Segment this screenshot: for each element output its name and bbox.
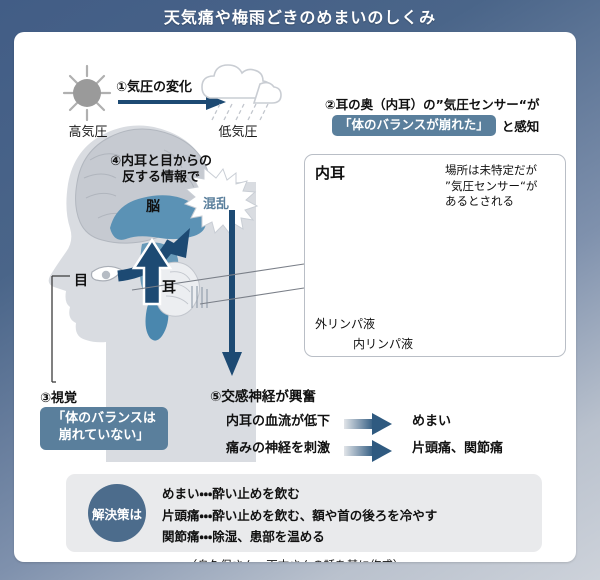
- sensor-note-line2: ”気圧センサー“が: [445, 179, 537, 195]
- main-card: ①気圧の変化 高気圧 低気圧 ②耳の奥（内耳）の”気圧センサー“が 「体のバラン…: [14, 32, 576, 562]
- step3-label: ③視覚: [40, 387, 77, 406]
- step2-suffix: と感知: [502, 116, 540, 135]
- sensor-note-line1: 場所は未特定だが: [445, 163, 537, 179]
- low-pressure-label: 低気圧: [200, 121, 276, 140]
- page-title: 天気痛や梅雨どきのめまいのしくみ: [164, 4, 436, 28]
- eye-label: 目: [74, 270, 88, 290]
- step2-line2: 「体のバランスが崩れた」 と感知: [332, 115, 539, 136]
- step4-label: ④内耳と目からの 反する情報で: [110, 154, 212, 187]
- eye-leader-line: [52, 276, 70, 382]
- list-item: 関節痛・・・除湿、患部を温める: [162, 526, 437, 548]
- gradient-arrow-icon: [352, 412, 404, 428]
- solution-box: 解決策は めまい・・・酔い止めを飲む 片頭痛・・・酔い止めを飲む、額や首の後ろを…: [66, 474, 542, 552]
- step5-effect: 片頭痛、関節痛: [412, 437, 503, 456]
- sensor-note: 場所は未特定だが ”気圧センサー“が あるとされる: [445, 163, 537, 210]
- balance-intact-badge: 「体のバランスは 崩れていない」: [40, 407, 168, 450]
- step5-row: 内耳の血流が低下 めまい: [226, 410, 451, 429]
- pressure-change-arrow: [118, 94, 226, 110]
- sun-icon: [73, 79, 101, 107]
- step5-title: ⑤交感神経が興奮: [210, 385, 316, 405]
- header-bar: 天気痛や梅雨どきのめまいのしくみ: [0, 0, 600, 32]
- inner-ear-panel: 内耳 場所は未特定だが ”気圧センサー“が あるとされる 外リンパ液 内リンパ液: [304, 154, 566, 357]
- endolymph-label: 内リンパ液: [353, 335, 413, 352]
- ear-leader-line: [132, 264, 304, 304]
- solution-circle-label: 解決策は: [88, 484, 146, 542]
- konran-label: 混乱: [189, 184, 243, 220]
- step3-badge-line2: 崩れていない」: [44, 428, 164, 445]
- solution-list: めまい・・・酔い止めを飲む 片頭痛・・・酔い止めを飲む、額や首の後ろを冷やす 関…: [162, 483, 437, 548]
- perilymph-label: 外リンパ液: [315, 315, 375, 332]
- rain-cloud-icon: [202, 65, 281, 120]
- step2-line1: ②耳の奥（内耳）の”気圧センサー“が: [325, 94, 540, 113]
- step3-badge-line1: 「体のバランスは: [44, 411, 164, 428]
- inner-ear-title: 内耳: [315, 162, 345, 183]
- step4-line1: ④内耳と目からの: [110, 154, 212, 170]
- eye-illustration: [92, 266, 123, 280]
- confusion-down-arrow: [222, 210, 242, 376]
- sensor-note-line3: あるとされる: [445, 194, 537, 210]
- list-item: 片頭痛・・・酔い止めを飲む、額や首の後ろを冷やす: [162, 505, 437, 527]
- step5-cause: 内耳の血流が低下: [226, 410, 344, 429]
- balance-broken-badge: 「体のバランスが崩れた」: [332, 115, 496, 136]
- step5-cause: 痛みの神経を刺激: [226, 437, 344, 456]
- gradient-arrow-icon: [352, 439, 404, 455]
- infographic-root: 天気痛や梅雨どきのめまいのしくみ: [0, 0, 600, 580]
- high-pressure-label: 高気圧: [50, 121, 126, 140]
- list-item: めまい・・・酔い止めを飲む: [162, 483, 437, 505]
- brain-label: 脳: [146, 196, 160, 216]
- pressure-change-label: ①気圧の変化: [116, 76, 192, 95]
- ear-label: 耳: [162, 277, 176, 297]
- source-credit: （舟久保さん、天本さんの話を基に作成）: [14, 557, 576, 562]
- step5-row: 痛みの神経を刺激 片頭痛、関節痛: [226, 437, 503, 456]
- step5-effect: めまい: [412, 410, 451, 429]
- eye-to-brain-arrow: [118, 228, 190, 276]
